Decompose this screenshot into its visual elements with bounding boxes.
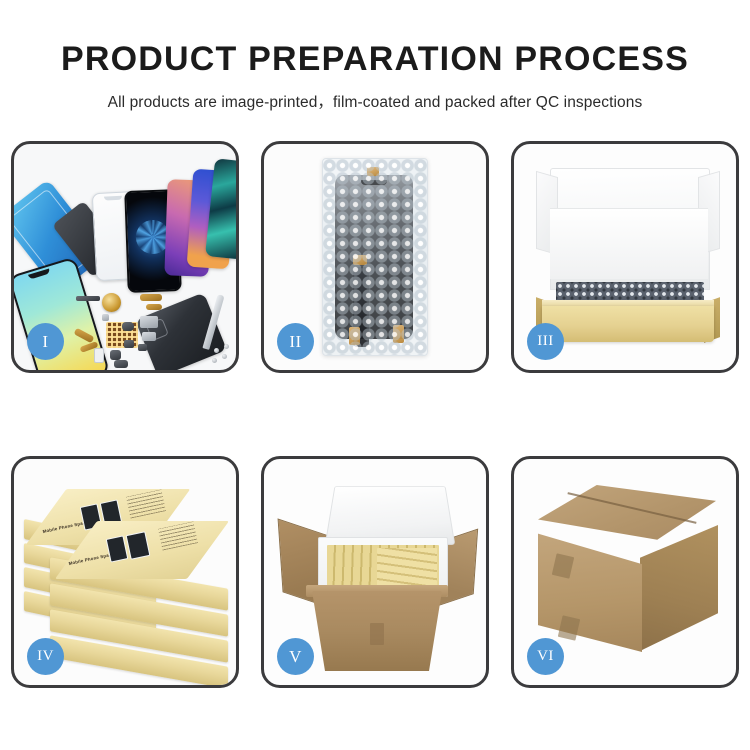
tape-icon	[349, 327, 360, 345]
page-title: PRODUCT PREPARATION PROCESS	[0, 0, 750, 76]
page-header: PRODUCT PREPARATION PROCESS All products…	[0, 0, 750, 112]
metal-bracket-part-icon	[142, 332, 156, 341]
open-yellow-box-icon	[536, 168, 720, 344]
step-badge-4: IV	[27, 638, 64, 675]
process-step-panel-4[interactable]: Mobile Phone Spare Parts Mobile Phone Sp…	[11, 456, 239, 688]
tape-icon	[558, 615, 580, 640]
box-front-panel-icon	[542, 306, 714, 342]
page-subtitle: All products are image-printed，film-coat…	[0, 76, 750, 112]
process-step-grid: I II	[11, 141, 739, 688]
foam-sheet-icon	[550, 208, 708, 279]
step-badge-1: I	[27, 323, 64, 360]
step-badge-5: V	[277, 638, 314, 675]
process-step-panel-3[interactable]: III	[511, 141, 739, 373]
metal-bracket-part-icon	[140, 316, 158, 328]
flex-cable-part-icon	[146, 304, 162, 310]
speaker-part-icon	[114, 360, 128, 368]
process-step-panel-5[interactable]: V	[261, 456, 489, 688]
screw-icon	[214, 348, 219, 353]
screw-icon	[222, 354, 227, 359]
process-step-panel-2[interactable]: II	[261, 141, 489, 373]
speaker-coil-icon	[102, 293, 121, 312]
vibration-motor-part-icon	[122, 322, 134, 331]
sealed-carton-icon	[530, 485, 726, 665]
wrapped-screen-icon	[335, 175, 413, 339]
process-step-panel-1[interactable]: I	[11, 141, 239, 373]
flex-cable-part-icon	[140, 294, 162, 301]
tape-icon	[393, 325, 404, 343]
step-badge-6: VI	[527, 638, 564, 675]
tape-icon	[353, 255, 367, 265]
carton-side-face-icon	[640, 525, 718, 651]
carton-front-face-icon	[538, 530, 642, 652]
step-badge-2: II	[277, 323, 314, 360]
ic-chip-part-icon	[124, 340, 134, 348]
yellow-boxes-contents-icon	[377, 548, 437, 586]
camera-module-part-icon	[110, 350, 121, 360]
screw-icon	[212, 358, 217, 363]
antenna-part-icon	[102, 314, 109, 321]
bubble-wrap-bag-icon	[322, 158, 428, 356]
battery-connector-part-icon	[76, 296, 100, 301]
process-step-panel-6[interactable]: VI	[511, 456, 739, 688]
tape-icon	[367, 167, 379, 176]
screw-icon	[224, 344, 229, 349]
foam-box-lid-icon	[325, 486, 456, 545]
ic-chip-part-icon	[138, 344, 147, 351]
sim-tray-part-icon	[94, 348, 104, 363]
tape-icon	[370, 623, 384, 645]
step-badge-3: III	[527, 323, 564, 360]
